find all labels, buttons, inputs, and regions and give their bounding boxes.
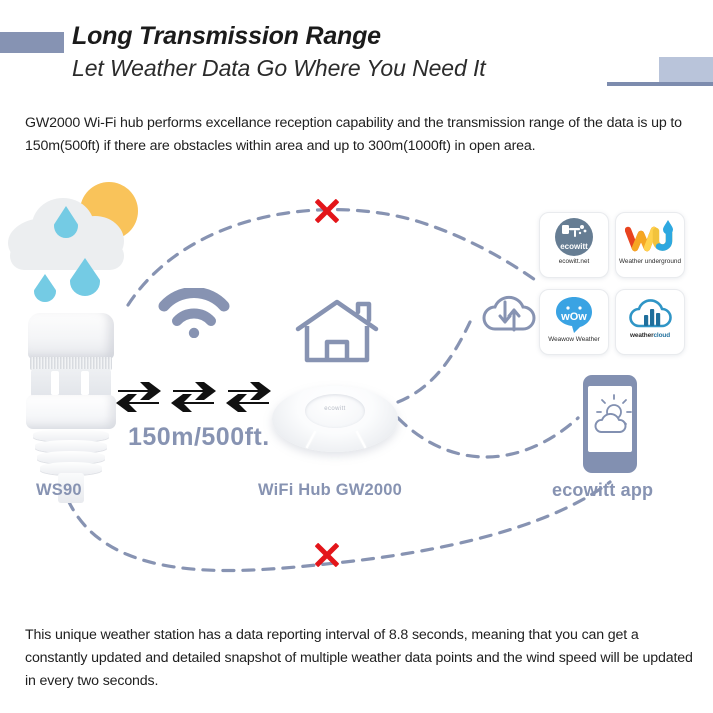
page-subtitle: Let Weather Data Go Where You Need It	[72, 53, 486, 84]
service-card-weathercloud[interactable]: weathercloud	[615, 289, 685, 355]
red-x-icon-top	[310, 194, 344, 228]
smartphone-icon	[583, 375, 637, 473]
rain-drop-icon	[70, 258, 100, 296]
service-card-weawow[interactable]: wOw Weawow Weather	[539, 289, 609, 355]
header-accent-block-right	[659, 57, 713, 84]
distance-label: 150m/500ft.	[128, 423, 270, 452]
rain-drop-icon	[34, 274, 56, 302]
caption-ecowitt-app: ecowitt app	[552, 480, 653, 501]
service-label: Weather underground	[617, 258, 683, 265]
header-accent-line-right	[607, 82, 713, 86]
weawow-logo-icon: wOw	[552, 295, 596, 335]
service-label: ecowitt.net	[541, 258, 607, 265]
red-x-icon-bottom	[310, 538, 344, 572]
weathercloud-word-a: weather	[630, 332, 653, 339]
weathercloud-word-b: cloud	[653, 332, 670, 339]
service-label: Weawow Weather	[541, 336, 607, 343]
page-title: Long Transmission Range	[72, 22, 486, 51]
svg-text:wOw: wOw	[560, 311, 587, 323]
cloud-sync-icon	[478, 288, 540, 338]
title-block: Long Transmission Range Let Weather Data…	[72, 22, 486, 84]
weathercloud-logo-icon	[625, 295, 675, 331]
service-label: weathercloud	[617, 332, 683, 339]
house-icon	[294, 298, 380, 364]
bidirectional-arrows-icon	[116, 378, 276, 414]
infographic-page: Long Transmission Range Let Weather Data…	[0, 0, 713, 713]
caption-ws90: WS90	[36, 481, 82, 500]
footer-paragraph: This unique weather station has a data r…	[25, 624, 697, 693]
weather-underground-logo-icon	[625, 218, 675, 256]
ws90-sensor-icon	[22, 313, 120, 503]
header-accent-bar-left	[0, 32, 64, 53]
wifi-hub-icon: ecowitt	[272, 380, 398, 462]
hub-brand-text: ecowitt	[305, 406, 365, 412]
sun-cloud-rain-icon	[4, 180, 144, 310]
rain-drop-icon	[54, 206, 78, 238]
caption-gw2000: WiFi Hub GW2000	[258, 481, 402, 500]
service-card-ecowitt[interactable]: ecowitt ecowitt.net	[539, 212, 609, 278]
service-card-wunderground[interactable]: Weather underground	[615, 212, 685, 278]
intro-paragraph: GW2000 Wi-Fi hub performs excellance rec…	[25, 112, 695, 158]
app-weather-icon	[588, 386, 632, 452]
ecowitt-logo-icon: ecowitt	[555, 218, 593, 256]
wifi-signal-icon	[158, 288, 230, 338]
ecowitt-wordmark: ecowitt	[555, 242, 593, 251]
